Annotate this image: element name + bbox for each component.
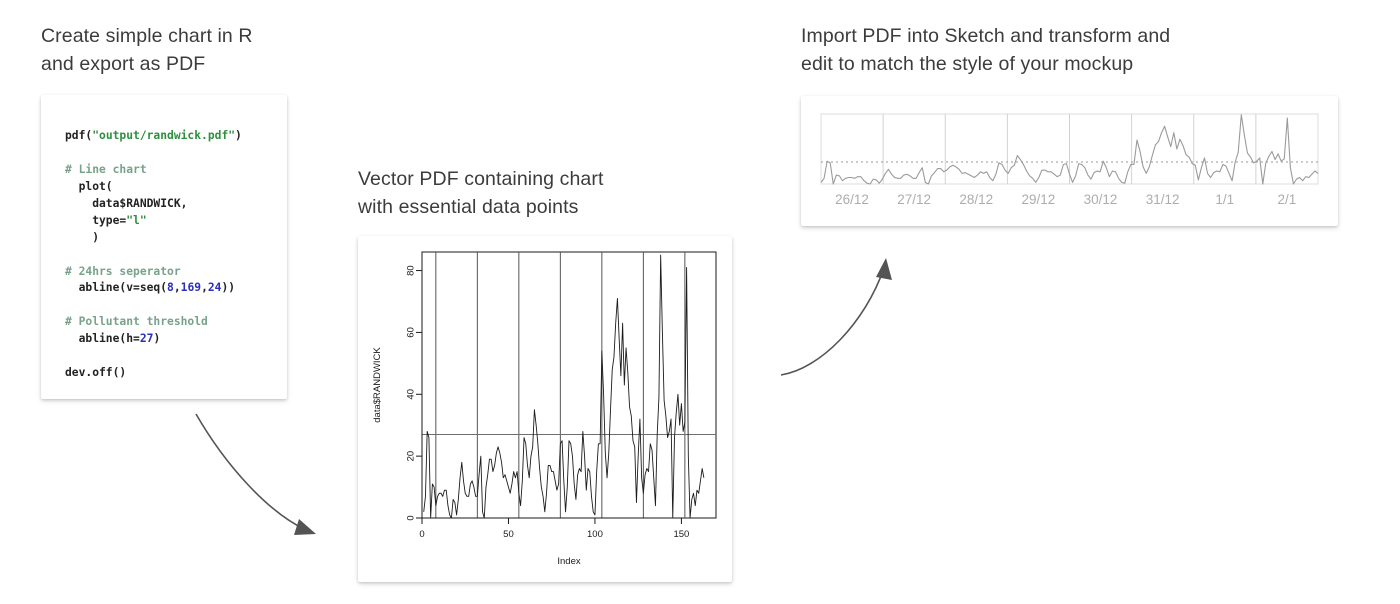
code-token-num: 169 xyxy=(181,281,201,294)
code-token-str: "output/randwick.pdf" xyxy=(92,129,235,142)
r-pdf-chart: 020406080050100150Indexdata$RANDWICK xyxy=(358,236,732,582)
code-token-plain: ) xyxy=(65,231,99,244)
code-token-plain: abline(v=seq( xyxy=(65,281,167,294)
x-tick-label: 31/12 xyxy=(1146,192,1180,207)
code-token-plain: ) xyxy=(235,129,242,142)
code-token-com: # Line chart xyxy=(65,163,147,176)
x-tick-label: 2/1 xyxy=(1278,192,1297,207)
x-tick-label: 50 xyxy=(503,529,514,540)
code-token-str: "l" xyxy=(126,214,146,227)
step3-caption: Import PDF into Sketch and transform and… xyxy=(801,22,1261,78)
code-token-plain: , xyxy=(174,281,181,294)
code-token-num: 8 xyxy=(167,281,174,294)
y-tick-label: 20 xyxy=(406,451,417,462)
sketch-mockup-card: 26/1227/1228/1229/1230/1231/121/12/1 xyxy=(801,96,1338,226)
y-tick-label: 60 xyxy=(406,327,417,338)
x-tick-label: 150 xyxy=(673,529,689,540)
x-tick-label: 0 xyxy=(419,529,424,540)
x-tick-label: 1/1 xyxy=(1215,192,1234,207)
x-tick-label: 27/12 xyxy=(897,192,931,207)
x-tick-label: 26/12 xyxy=(835,192,869,207)
r-code-card: pdf("output/randwick.pdf") # Line chart … xyxy=(41,95,287,399)
sketch-mockup-chart: 26/1227/1228/1229/1230/1231/121/12/1 xyxy=(801,96,1338,226)
code-token-plain: )) xyxy=(221,281,235,294)
y-tick-label: 80 xyxy=(406,265,417,276)
code-token-plain: data$RANDWICK, xyxy=(65,197,187,210)
code-token-com: # 24hrs seperator xyxy=(65,265,181,278)
x-tick-label: 29/12 xyxy=(1022,192,1056,207)
arrow-pdf-to-sketch xyxy=(781,258,892,375)
code-token-plain: pdf( xyxy=(65,129,92,142)
code-token-plain: dev.off() xyxy=(65,366,126,379)
x-tick-label: 28/12 xyxy=(959,192,993,207)
step1-caption: Create simple chart in R and export as P… xyxy=(41,22,361,78)
x-tick-label: 100 xyxy=(587,529,603,540)
y-tick-label: 0 xyxy=(406,515,417,520)
code-token-plain: , xyxy=(201,281,208,294)
pdf-chart-card: 020406080050100150Indexdata$RANDWICK xyxy=(358,236,732,582)
r-code-block: pdf("output/randwick.pdf") # Line chart … xyxy=(65,128,242,382)
data-series-line xyxy=(424,255,704,518)
code-token-plain: type= xyxy=(65,214,126,227)
code-token-num: 24 xyxy=(208,281,222,294)
arrow-code-to-pdf xyxy=(196,414,316,535)
step2-caption: Vector PDF containing chart with essenti… xyxy=(358,165,688,221)
y-axis-title: data$RANDWICK xyxy=(372,347,383,423)
code-token-plain: ) xyxy=(153,332,160,345)
y-tick-label: 40 xyxy=(406,389,417,400)
code-token-plain: plot( xyxy=(65,180,113,193)
code-token-plain: abline(h= xyxy=(65,332,140,345)
code-token-num: 27 xyxy=(140,332,154,345)
x-tick-label: 30/12 xyxy=(1084,192,1118,207)
code-token-com: # Pollutant threshold xyxy=(65,315,208,328)
x-axis-title: Index xyxy=(557,556,580,567)
